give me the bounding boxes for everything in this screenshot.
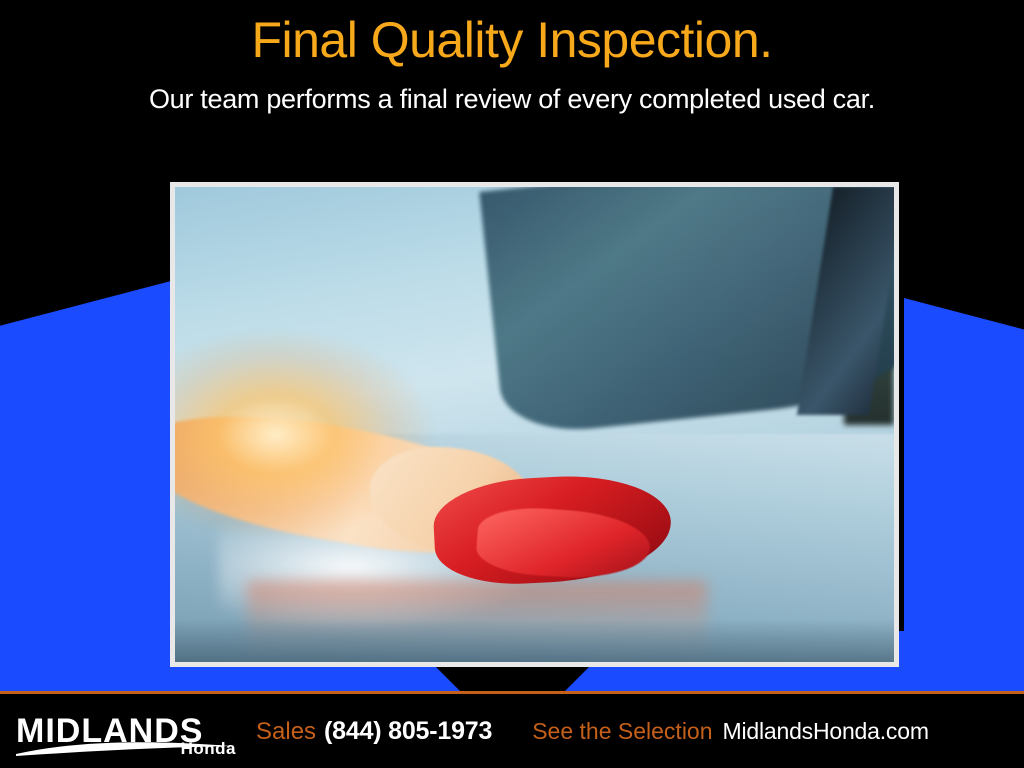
advertisement-banner: Final Quality Inspection. Our team perfo… <box>0 0 1024 768</box>
dealer-logo[interactable]: MIDLANDS Honda <box>0 693 250 768</box>
photo-frame <box>170 182 899 667</box>
hero-photo <box>175 187 894 662</box>
footer-contact-group: Sales (844) 805-1973 See the Selection M… <box>250 717 929 746</box>
phone-number[interactable]: (844) 805-1973 <box>324 717 492 746</box>
website-link[interactable]: MidlandsHonda.com <box>723 718 929 745</box>
footer-bar: MIDLANDS Honda Sales (844) 805-1973 See … <box>0 691 1024 768</box>
photo-layer-bottom-shade <box>175 619 894 662</box>
page-title: Final Quality Inspection. <box>0 14 1024 67</box>
logo-secondary-text: Honda <box>181 739 236 759</box>
subtitle: Our team performs a final review of ever… <box>0 84 1024 115</box>
see-the-selection-label[interactable]: See the Selection <box>532 718 712 745</box>
decorative-blue-shape-left <box>0 276 190 691</box>
sales-label: Sales <box>256 718 316 746</box>
